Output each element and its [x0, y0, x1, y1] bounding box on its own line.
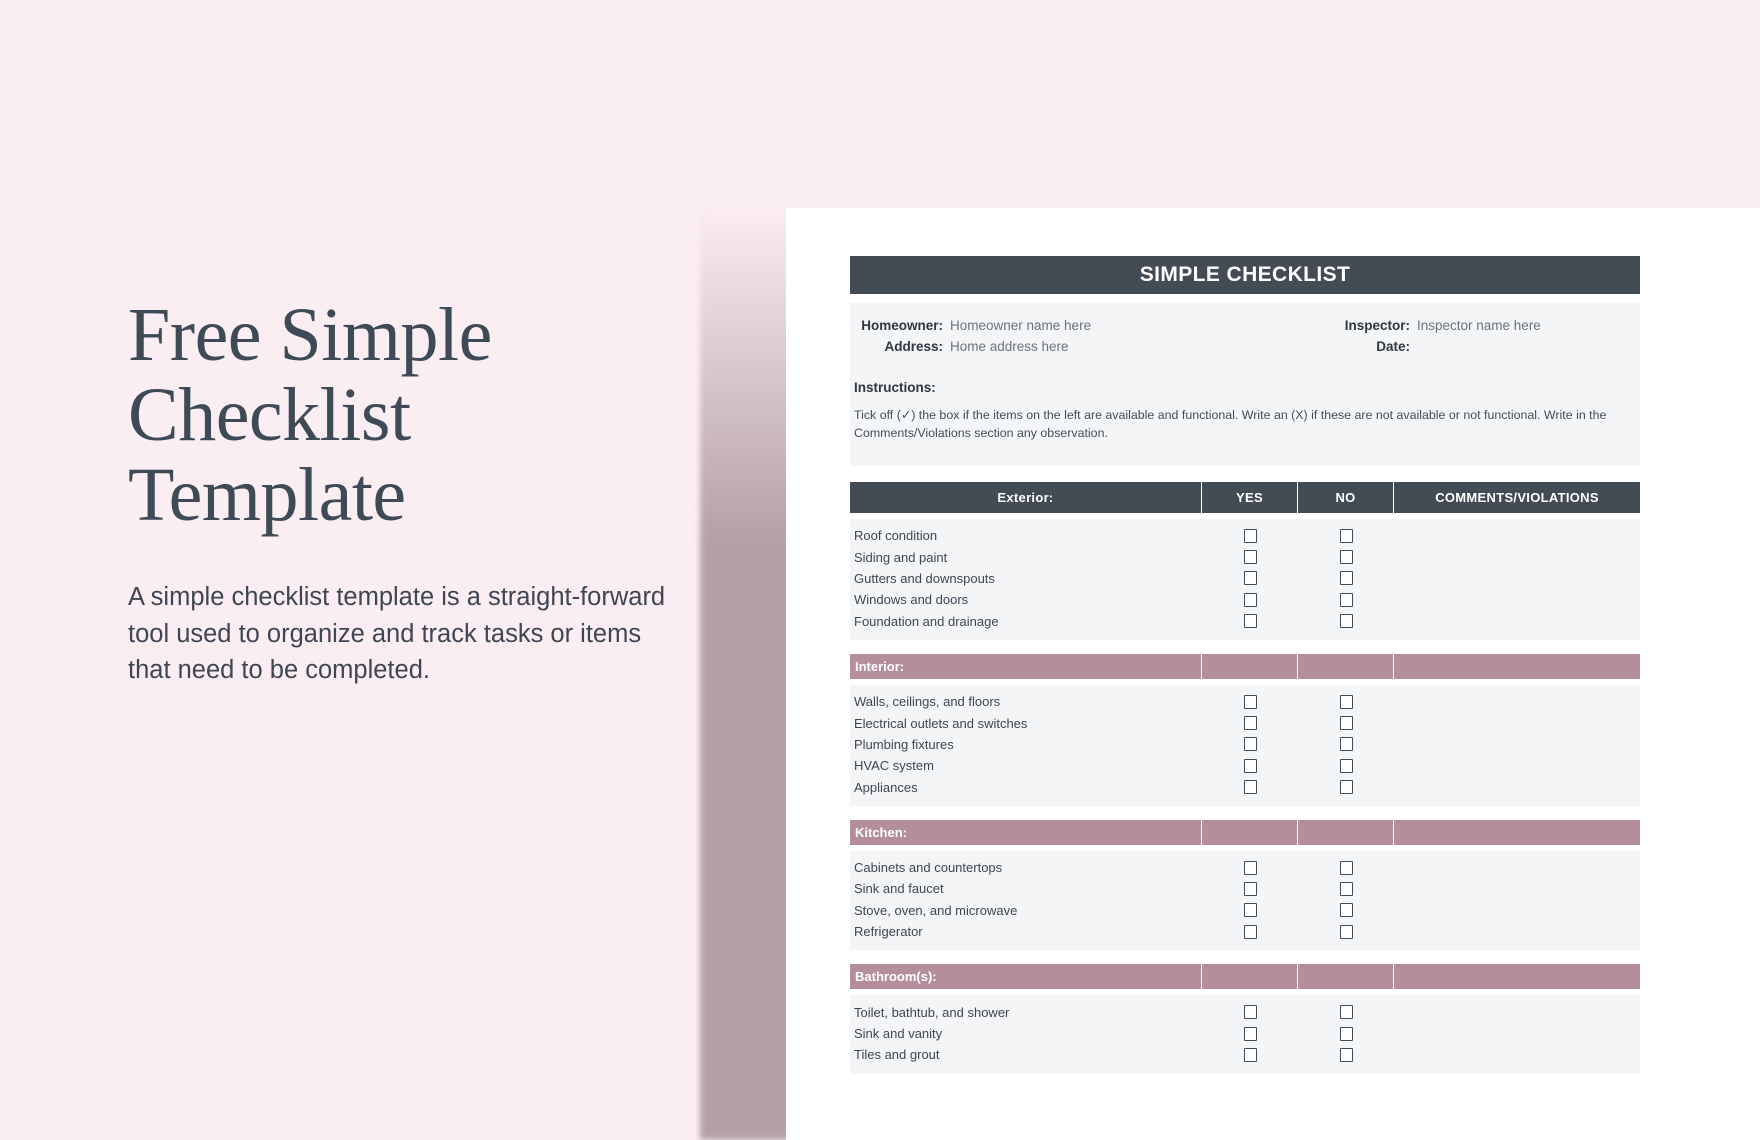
info-row-inspector: Inspector: Inspector name here [1245, 318, 1640, 333]
no-checkbox[interactable] [1340, 571, 1353, 585]
yes-cell[interactable] [1202, 695, 1298, 709]
info-row-date: Date: [1245, 339, 1640, 354]
checklist-row: Plumbing fixtures [850, 734, 1640, 755]
checklist-item-label: Sink and faucet [850, 881, 1202, 896]
section-band-comments [1394, 654, 1640, 679]
yes-cell[interactable] [1202, 571, 1298, 585]
checklist-item-label: Siding and paint [850, 550, 1202, 565]
instructions-heading: Instructions: [850, 380, 1640, 395]
section-band-no [1298, 820, 1394, 845]
no-cell[interactable] [1298, 861, 1394, 875]
address-label: Address: [850, 339, 950, 354]
no-cell[interactable] [1298, 716, 1394, 730]
yes-checkbox[interactable] [1244, 925, 1257, 939]
yes-cell[interactable] [1202, 716, 1298, 730]
yes-checkbox[interactable] [1244, 716, 1257, 730]
no-cell[interactable] [1298, 925, 1394, 939]
inspector-value[interactable]: Inspector name here [1417, 318, 1541, 333]
yes-checkbox[interactable] [1244, 903, 1257, 917]
info-row-homeowner: Homeowner: Homeowner name here [850, 318, 1245, 333]
yes-checkbox[interactable] [1244, 1027, 1257, 1041]
section-title: Bathroom(s): [850, 964, 1202, 989]
section-items: Toilet, bathtub, and showerSink and vani… [850, 995, 1640, 1073]
no-cell[interactable] [1298, 780, 1394, 794]
section-spacer [850, 806, 1640, 820]
yes-checkbox[interactable] [1244, 529, 1257, 543]
checklist-item-label: Electrical outlets and switches [850, 716, 1202, 731]
column-header-section: Exterior: [850, 482, 1202, 513]
inspector-label: Inspector: [1245, 318, 1417, 333]
document-title-bar: SIMPLE CHECKLIST [850, 256, 1640, 294]
no-cell[interactable] [1298, 695, 1394, 709]
no-checkbox[interactable] [1340, 780, 1353, 794]
checklist-row: Electrical outlets and switches [850, 712, 1640, 733]
no-cell[interactable] [1298, 529, 1394, 543]
instructions-text: Tick off (✓) the box if the items on the… [850, 407, 1640, 443]
checklist-row: Cabinets and countertops [850, 857, 1640, 878]
yes-cell[interactable] [1202, 737, 1298, 751]
section-items: Cabinets and countertopsSink and faucetS… [850, 851, 1640, 951]
section-band-no [1298, 964, 1394, 989]
section-band-bathrooms: Bathroom(s): [850, 964, 1640, 989]
checklist-item-label: Stove, oven, and microwave [850, 903, 1202, 918]
checklist-row: Refrigerator [850, 921, 1640, 942]
no-checkbox[interactable] [1340, 1048, 1353, 1062]
section-band-yes [1202, 654, 1298, 679]
document-body: SIMPLE CHECKLIST Homeowner: Homeowner na… [850, 256, 1640, 1074]
checklist-row: HVAC system [850, 755, 1640, 776]
document-title: SIMPLE CHECKLIST [1140, 263, 1351, 287]
table-header-row: Exterior:YESNOCOMMENTS/VIOLATIONS [850, 482, 1640, 513]
yes-cell[interactable] [1202, 903, 1298, 917]
no-checkbox[interactable] [1340, 593, 1353, 607]
date-label: Date: [1245, 339, 1417, 354]
section-band-yes [1202, 820, 1298, 845]
checklist-row: Toilet, bathtub, and shower [850, 1001, 1640, 1022]
section-band-yes [1202, 964, 1298, 989]
promo-description: A simple checklist template is a straigh… [128, 579, 673, 688]
homeowner-label: Homeowner: [850, 318, 950, 333]
no-checkbox[interactable] [1340, 759, 1353, 773]
checklist-row: Sink and vanity [850, 1023, 1640, 1044]
homeowner-value[interactable]: Homeowner name here [950, 318, 1091, 333]
no-cell[interactable] [1298, 759, 1394, 773]
yes-cell[interactable] [1202, 780, 1298, 794]
no-cell[interactable] [1298, 614, 1394, 628]
section-band-no [1298, 654, 1394, 679]
checklist-row: Foundation and drainage [850, 611, 1640, 632]
no-checkbox[interactable] [1340, 550, 1353, 564]
no-checkbox[interactable] [1340, 882, 1353, 896]
yes-cell[interactable] [1202, 1005, 1298, 1019]
yes-cell[interactable] [1202, 759, 1298, 773]
checklist-item-label: Roof condition [850, 528, 1202, 543]
checklist-row: Tiles and grout [850, 1044, 1640, 1065]
checklist-row: Roof condition [850, 525, 1640, 546]
checklist-item-label: Tiles and grout [850, 1047, 1202, 1062]
no-checkbox[interactable] [1340, 716, 1353, 730]
checklist-item-label: Refrigerator [850, 924, 1202, 939]
no-cell[interactable] [1298, 593, 1394, 607]
checklist-row: Gutters and downspouts [850, 568, 1640, 589]
checklist-row: Walls, ceilings, and floors [850, 691, 1640, 712]
checklist-item-label: Gutters and downspouts [850, 571, 1202, 586]
yes-cell[interactable] [1202, 1048, 1298, 1062]
no-checkbox[interactable] [1340, 903, 1353, 917]
column-header-no: NO [1298, 482, 1394, 513]
yes-cell[interactable] [1202, 882, 1298, 896]
no-checkbox[interactable] [1340, 737, 1353, 751]
yes-checkbox[interactable] [1244, 737, 1257, 751]
yes-cell[interactable] [1202, 614, 1298, 628]
info-panel: Homeowner: Homeowner name here Address: … [850, 303, 1640, 466]
section-title: Interior: [850, 654, 1202, 679]
info-column-left: Homeowner: Homeowner name here Address: … [850, 318, 1245, 360]
checklist-item-label: Plumbing fixtures [850, 737, 1202, 752]
section-title: Kitchen: [850, 820, 1202, 845]
section-band-comments [1394, 964, 1640, 989]
checklist-item-label: Walls, ceilings, and floors [850, 694, 1202, 709]
checklist-item-label: HVAC system [850, 758, 1202, 773]
no-cell[interactable] [1298, 550, 1394, 564]
yes-checkbox[interactable] [1244, 882, 1257, 896]
no-checkbox[interactable] [1340, 1005, 1353, 1019]
yes-cell[interactable] [1202, 1027, 1298, 1041]
no-checkbox[interactable] [1340, 925, 1353, 939]
no-checkbox[interactable] [1340, 529, 1353, 543]
checklist-table: Exterior:YESNOCOMMENTS/VIOLATIONSRoof co… [850, 482, 1640, 1074]
checklist-item-label: Sink and vanity [850, 1026, 1202, 1041]
checklist-row: Sink and faucet [850, 878, 1640, 899]
checklist-row: Windows and doors [850, 589, 1640, 610]
yes-checkbox[interactable] [1244, 593, 1257, 607]
section-band-interior: Interior: [850, 654, 1640, 679]
checklist-item-label: Windows and doors [850, 592, 1202, 607]
yes-cell[interactable] [1202, 529, 1298, 543]
checklist-item-label: Cabinets and countertops [850, 860, 1202, 875]
no-checkbox[interactable] [1340, 695, 1353, 709]
checklist-row: Siding and paint [850, 546, 1640, 567]
yes-checkbox[interactable] [1244, 780, 1257, 794]
checklist-item-label: Appliances [850, 780, 1202, 795]
info-column-right: Inspector: Inspector name here Date: [1245, 318, 1640, 360]
yes-checkbox[interactable] [1244, 1005, 1257, 1019]
instructions-block: Instructions: Tick off (✓) the box if th… [850, 360, 1640, 453]
yes-cell[interactable] [1202, 925, 1298, 939]
section-spacer [850, 640, 1640, 654]
checklist-row: Stove, oven, and microwave [850, 900, 1640, 921]
no-cell[interactable] [1298, 1048, 1394, 1062]
no-cell[interactable] [1298, 1027, 1394, 1041]
no-cell[interactable] [1298, 571, 1394, 585]
section-spacer [850, 950, 1640, 964]
checklist-item-label: Foundation and drainage [850, 614, 1202, 629]
section-band-kitchen: Kitchen: [850, 820, 1640, 845]
address-value[interactable]: Home address here [950, 339, 1069, 354]
section-items: Walls, ceilings, and floorsElectrical ou… [850, 685, 1640, 806]
yes-checkbox[interactable] [1244, 759, 1257, 773]
yes-checkbox[interactable] [1244, 861, 1257, 875]
column-header-comments: COMMENTS/VIOLATIONS [1394, 482, 1640, 513]
no-cell[interactable] [1298, 737, 1394, 751]
yes-cell[interactable] [1202, 861, 1298, 875]
no-cell[interactable] [1298, 1005, 1394, 1019]
section-band-comments [1394, 820, 1640, 845]
yes-cell[interactable] [1202, 550, 1298, 564]
sheet-shadow [700, 205, 792, 1140]
no-checkbox[interactable] [1340, 614, 1353, 628]
no-cell[interactable] [1298, 882, 1394, 896]
no-checkbox[interactable] [1340, 1027, 1353, 1041]
column-header-yes: YES [1202, 482, 1298, 513]
no-cell[interactable] [1298, 903, 1394, 917]
yes-cell[interactable] [1202, 593, 1298, 607]
checklist-item-label: Toilet, bathtub, and shower [850, 1005, 1202, 1020]
yes-checkbox[interactable] [1244, 1048, 1257, 1062]
yes-checkbox[interactable] [1244, 550, 1257, 564]
document-sheet: SIMPLE CHECKLIST Homeowner: Homeowner na… [786, 208, 1760, 1140]
info-row-address: Address: Home address here [850, 339, 1245, 354]
screen: Free Simple Checklist Template A simple … [0, 0, 1760, 1140]
checklist-row: Appliances [850, 776, 1640, 797]
promo-title: Free Simple Checklist Template [128, 296, 688, 535]
promo-panel: Free Simple Checklist Template A simple … [128, 296, 688, 688]
yes-checkbox[interactable] [1244, 571, 1257, 585]
no-checkbox[interactable] [1340, 861, 1353, 875]
yes-checkbox[interactable] [1244, 614, 1257, 628]
section-items: Roof conditionSiding and paintGutters an… [850, 519, 1640, 640]
yes-checkbox[interactable] [1244, 695, 1257, 709]
